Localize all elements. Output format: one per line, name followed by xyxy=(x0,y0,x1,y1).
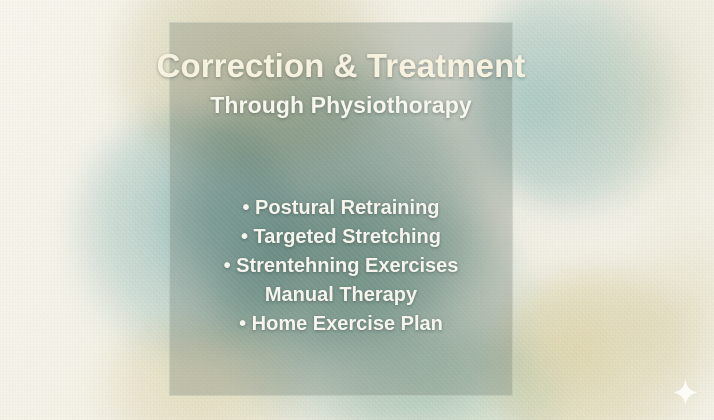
treatment-bullet-list: • Postural Retraining • Targeted Stretch… xyxy=(0,194,682,339)
list-item: • Postural Retraining xyxy=(0,194,682,223)
slide-headline: Correction & Treatment xyxy=(0,47,682,85)
slide-subheadline: Through Physiothorapy xyxy=(0,92,682,119)
sparkle-icon xyxy=(673,379,698,406)
list-item: • Strentehning Exercises xyxy=(0,252,682,281)
list-item: • Home Exercise Plan xyxy=(0,310,682,339)
list-item: • Targeted Stretching xyxy=(0,223,682,252)
list-item: Manual Therapy xyxy=(0,281,682,310)
slide-canvas: Correction & Treatment Through Physiotho… xyxy=(0,0,714,420)
